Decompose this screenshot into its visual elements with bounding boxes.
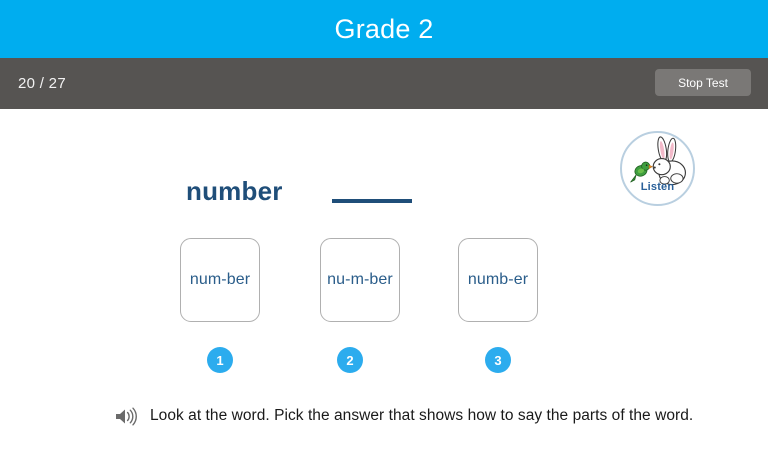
answer-badge-2[interactable]: 2	[337, 347, 363, 373]
answer-option-1-text: num-ber	[190, 271, 250, 289]
listen-label: Listen	[622, 181, 693, 193]
stop-test-button[interactable]: Stop Test	[655, 69, 751, 96]
app-header: Grade 2	[0, 0, 768, 58]
listen-button[interactable]: Listen	[620, 131, 695, 206]
speaker-icon[interactable]	[112, 404, 138, 428]
answer-badge-3[interactable]: 3	[485, 347, 511, 373]
answer-option-1[interactable]: num-ber	[180, 238, 260, 322]
question-content: Listen number num-ber nu-m-ber numb-er 1…	[0, 109, 768, 471]
answer-option-3-text: numb-er	[468, 271, 528, 289]
answer-option-2-text: nu-m-ber	[327, 271, 393, 289]
progress-indicator: 20 / 27	[18, 75, 66, 92]
answer-option-2[interactable]: nu-m-ber	[320, 238, 400, 322]
instruction-text: Look at the word. Pick the answer that s…	[150, 407, 693, 425]
toolbar: 20 / 27 Stop Test	[0, 58, 768, 109]
answer-badge-1[interactable]: 1	[207, 347, 233, 373]
prompt-word: number	[186, 176, 283, 207]
answer-blank-line	[332, 199, 412, 203]
instruction-row: Look at the word. Pick the answer that s…	[112, 404, 693, 428]
page-title: Grade 2	[335, 16, 434, 43]
rabbit-and-parrot-icon	[622, 133, 693, 204]
assessment-screen: Grade 2 20 / 27 Stop Test	[0, 0, 768, 471]
answer-option-3[interactable]: numb-er	[458, 238, 538, 322]
